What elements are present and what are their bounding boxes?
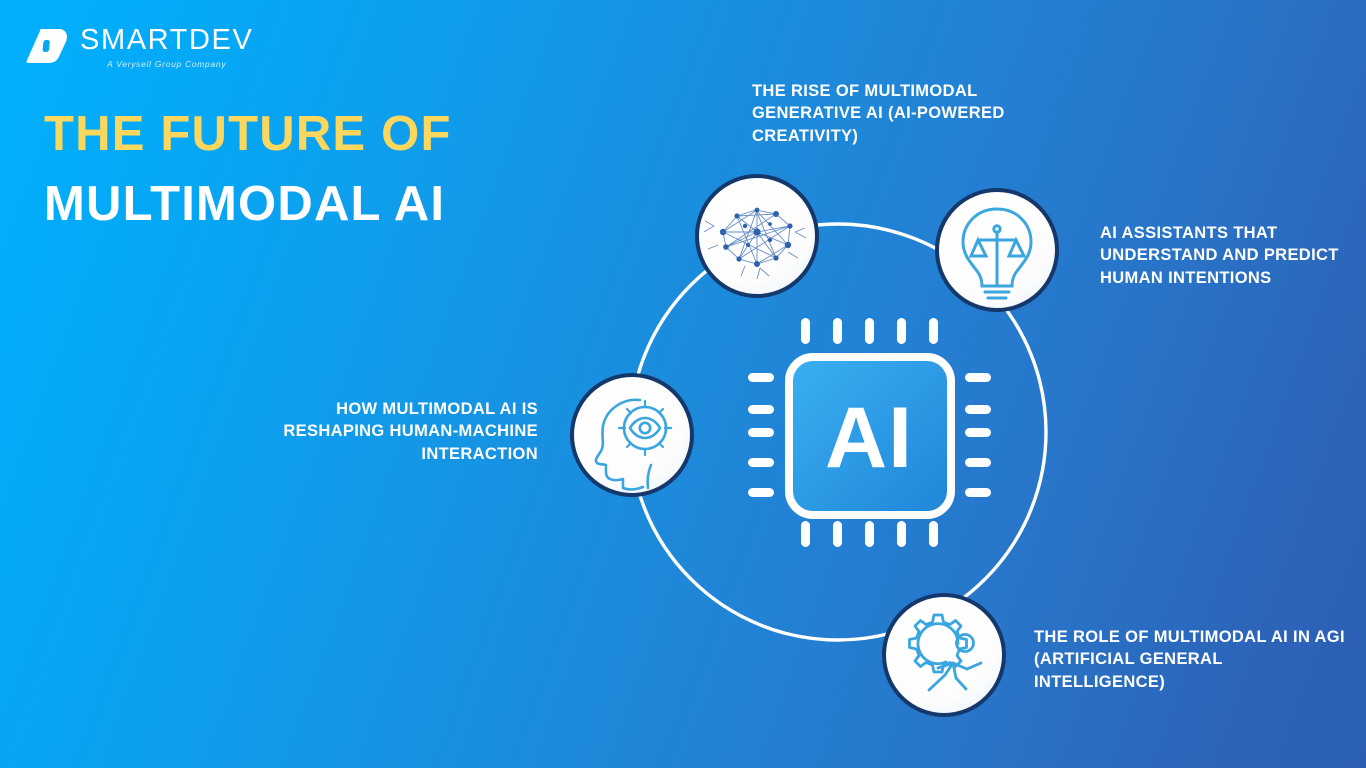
page-title-line-1: THE FUTURE OF <box>44 100 604 170</box>
callout-label-assistants: AI ASSISTANTS THAT UNDERSTAND AND PREDIC… <box>1100 222 1352 289</box>
brand-logo: SMARTDEV A Verysell Group Company <box>26 24 253 69</box>
brand-tagline: A Verysell Group Company <box>80 60 253 69</box>
callout-label-agi: THE ROLE OF MULTIMODAL AI IN AGI (ARTIFI… <box>1034 626 1352 693</box>
gear-running-person-icon <box>910 615 982 690</box>
node-agi[interactable] <box>884 595 1004 715</box>
connector-ring <box>630 224 1046 640</box>
smartdev-d-mark-icon <box>26 27 68 65</box>
callout-label-interaction: HOW MULTIMODAL AI IS RESHAPING HUMAN-MAC… <box>250 398 538 465</box>
neural-network-brain-icon <box>704 208 806 279</box>
head-profile-eye-icon <box>596 400 671 490</box>
lightbulb-balance-scale-icon <box>963 209 1031 298</box>
brand-name: SMARTDEV <box>80 26 253 55</box>
node-generative[interactable] <box>697 176 817 296</box>
ai-chip-label: AI <box>825 390 913 486</box>
infographic-slide: SMARTDEV A Verysell Group Company THE FU… <box>0 0 1366 768</box>
brand-logo-text: SMARTDEV A Verysell Group Company <box>80 24 253 69</box>
page-title-line-2: MULTIMODAL AI <box>44 170 604 240</box>
callout-label-generative: THE RISE OF MULTIMODAL GENERATIVE AI (AI… <box>752 80 1052 147</box>
node-assistants[interactable] <box>937 190 1057 310</box>
page-title: THE FUTURE OF MULTIMODAL AI <box>44 100 604 239</box>
node-interaction[interactable] <box>572 375 692 495</box>
ai-chip-icon: AI <box>748 318 991 547</box>
